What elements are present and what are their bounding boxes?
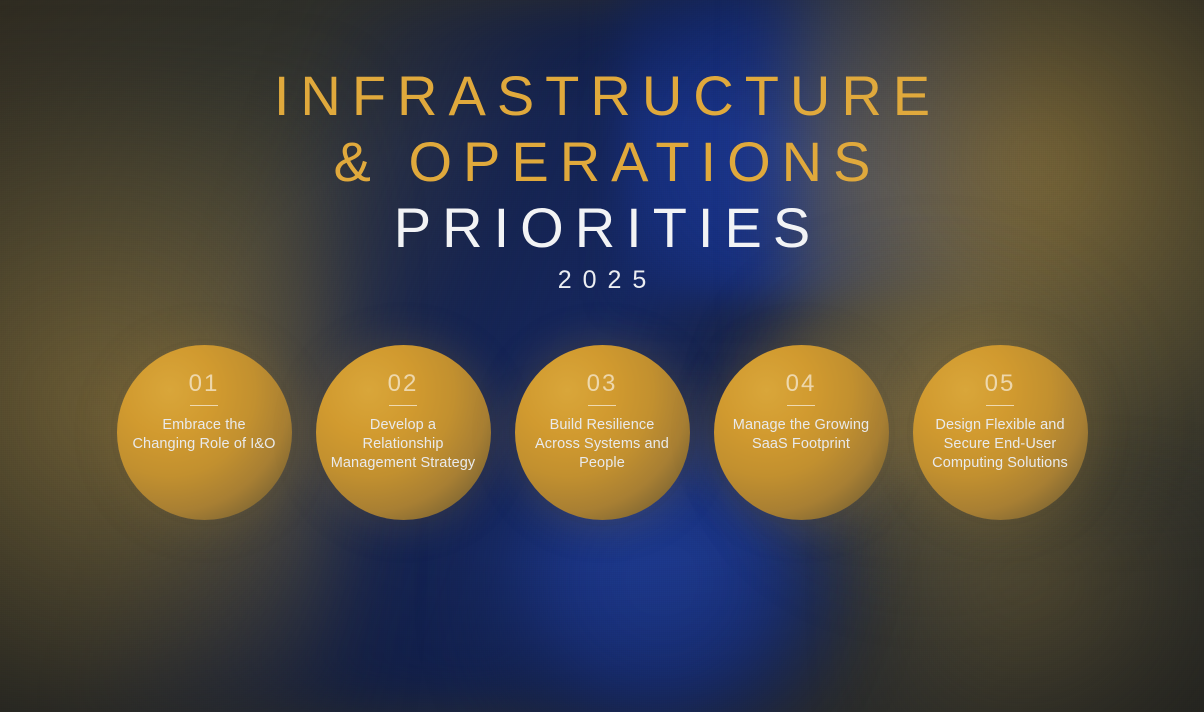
- priority-divider: [787, 405, 815, 406]
- page-title-line-3: PRIORITIES: [0, 200, 1204, 256]
- priority-circle-row: 01 Embrace the Changing Role of I&O 02 D…: [0, 345, 1204, 531]
- priority-number: 01: [189, 372, 220, 396]
- priority-number: 03: [587, 372, 618, 396]
- priority-divider: [986, 405, 1014, 406]
- priority-number: 04: [786, 372, 817, 396]
- priority-divider: [389, 405, 417, 406]
- priority-label: Build Resilience Across Systems and Peop…: [527, 416, 677, 473]
- priority-circle-04[interactable]: 04 Manage the Growing SaaS Footprint: [714, 345, 889, 520]
- page-title-year: 2025: [0, 266, 1204, 295]
- page-title-line-2: & OPERATIONS: [0, 134, 1204, 190]
- priority-circle-03[interactable]: 03 Build Resilience Across Systems and P…: [515, 345, 690, 520]
- priority-divider: [190, 405, 218, 406]
- slide-canvas: INFRASTRUCTURE & OPERATIONS PRIORITIES 2…: [0, 0, 1204, 712]
- title-block: INFRASTRUCTURE & OPERATIONS PRIORITIES 2…: [0, 68, 1204, 295]
- priority-label: Embrace the Changing Role of I&O: [129, 416, 279, 454]
- priority-circle-05[interactable]: 05 Design Flexible and Secure End-User C…: [913, 345, 1088, 520]
- priority-number: 02: [388, 372, 419, 396]
- priority-label: Develop a Relationship Management Strate…: [328, 416, 478, 473]
- priority-label: Manage the Growing SaaS Footprint: [726, 416, 876, 454]
- page-title-line-1: INFRASTRUCTURE: [0, 68, 1204, 124]
- priority-divider: [588, 405, 616, 406]
- priority-circle-02[interactable]: 02 Develop a Relationship Management Str…: [316, 345, 491, 520]
- priority-label: Design Flexible and Secure End-User Comp…: [925, 416, 1075, 473]
- priority-number: 05: [985, 372, 1016, 396]
- priority-circle-01[interactable]: 01 Embrace the Changing Role of I&O: [117, 345, 292, 520]
